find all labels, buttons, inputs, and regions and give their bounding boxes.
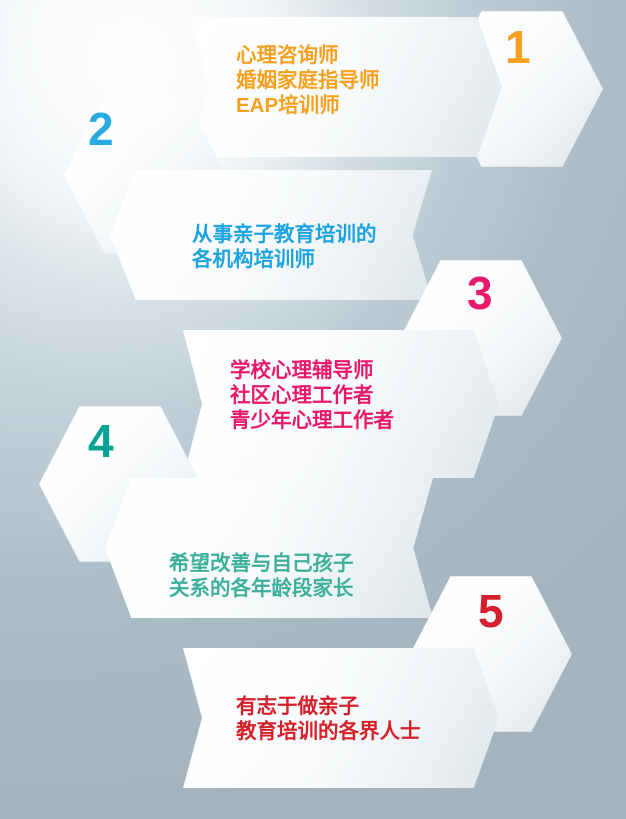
item-number-1: 1: [505, 24, 530, 70]
item-text-4: 希望改善与自己孩子 关系的各年龄段家长: [169, 551, 439, 601]
infographic-canvas: 心理咨询师 婚姻家庭指导师 EAP培训师 1 从事亲子教育培训的 各机构培训师 …: [0, 0, 626, 819]
item-number-5: 5: [478, 588, 503, 634]
item-text-5: 有志于做亲子 教育培训的各界人士: [236, 694, 506, 744]
item-number-2: 2: [88, 106, 113, 152]
item-text-3: 学校心理辅导师 社区心理工作者 青少年心理工作者: [230, 358, 498, 433]
item-number-3: 3: [467, 270, 492, 316]
item-text-2: 从事亲子教育培训的 各机构培训师: [192, 222, 454, 272]
item-number-4: 4: [88, 418, 113, 464]
item-text-1: 心理咨询师 婚姻家庭指导师 EAP培训师: [236, 43, 496, 118]
